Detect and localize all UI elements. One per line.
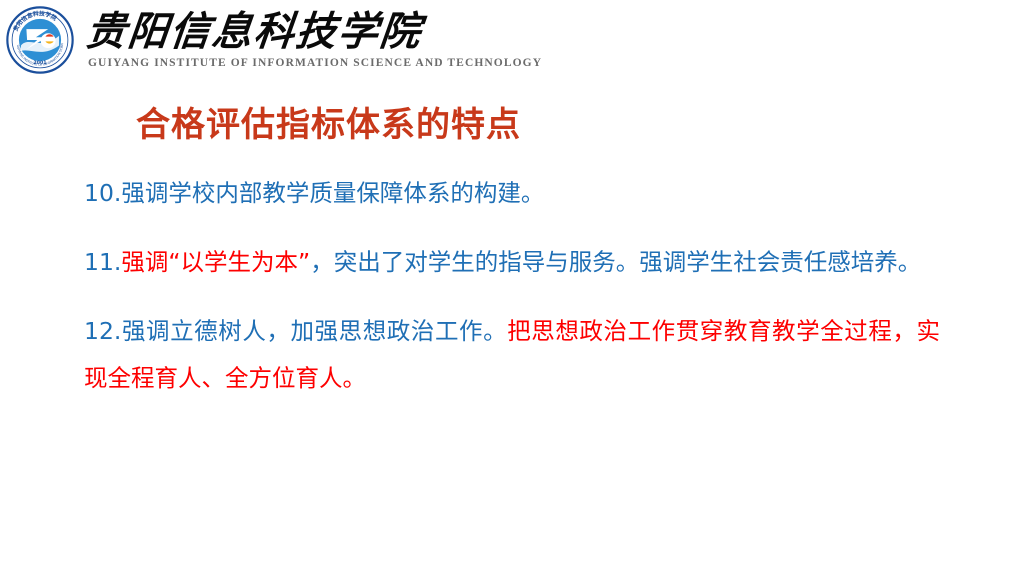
text-segment-normal: 10.强调学校内部教学质量保障体系的构建。 [84, 179, 544, 207]
slide-body: 10.强调学校内部教学质量保障体系的构建。 11.强调“以学生为本”，突出了对学… [84, 170, 940, 402]
page-title: 合格评估指标体系的特点 [136, 104, 521, 146]
institution-seal-icon: 2001 贵阳信息科技学院 GUIYANG INSTITUTE OF INFOR… [6, 6, 74, 74]
wordmark-english: GUIYANG INSTITUTE OF INFORMATION SCIENCE… [86, 56, 542, 70]
text-segment-normal: 11. [84, 248, 121, 276]
bullet-item-10: 10.强调学校内部教学质量保障体系的构建。 [84, 170, 940, 217]
bullet-item-11: 11.强调“以学生为本”，突出了对学生的指导与服务。强调学生社会责任感培养。 [84, 239, 940, 286]
institution-wordmark: 贵阳信息科技学院 GUIYANG INSTITUTE OF INFORMATIO… [86, 10, 542, 70]
slide-root: 2001 贵阳信息科技学院 GUIYANG INSTITUTE OF INFOR… [0, 0, 1024, 576]
wordmark-chinese: 贵阳信息科技学院 [84, 10, 545, 54]
text-segment-highlight: 强调“以学生为本” [121, 248, 310, 276]
text-segment-normal: 12.强调立德树人，加强思想政治工作。 [84, 317, 507, 345]
institution-logo-bar: 2001 贵阳信息科技学院 GUIYANG INSTITUTE OF INFOR… [6, 2, 542, 78]
text-segment-normal: ，突出了对学生的指导与服务。强调学生社会责任感培养。 [310, 248, 921, 276]
bullet-item-12: 12.强调立德树人，加强思想政治工作。把思想政治工作贯穿教育教学全过程，实现全程… [84, 308, 940, 402]
